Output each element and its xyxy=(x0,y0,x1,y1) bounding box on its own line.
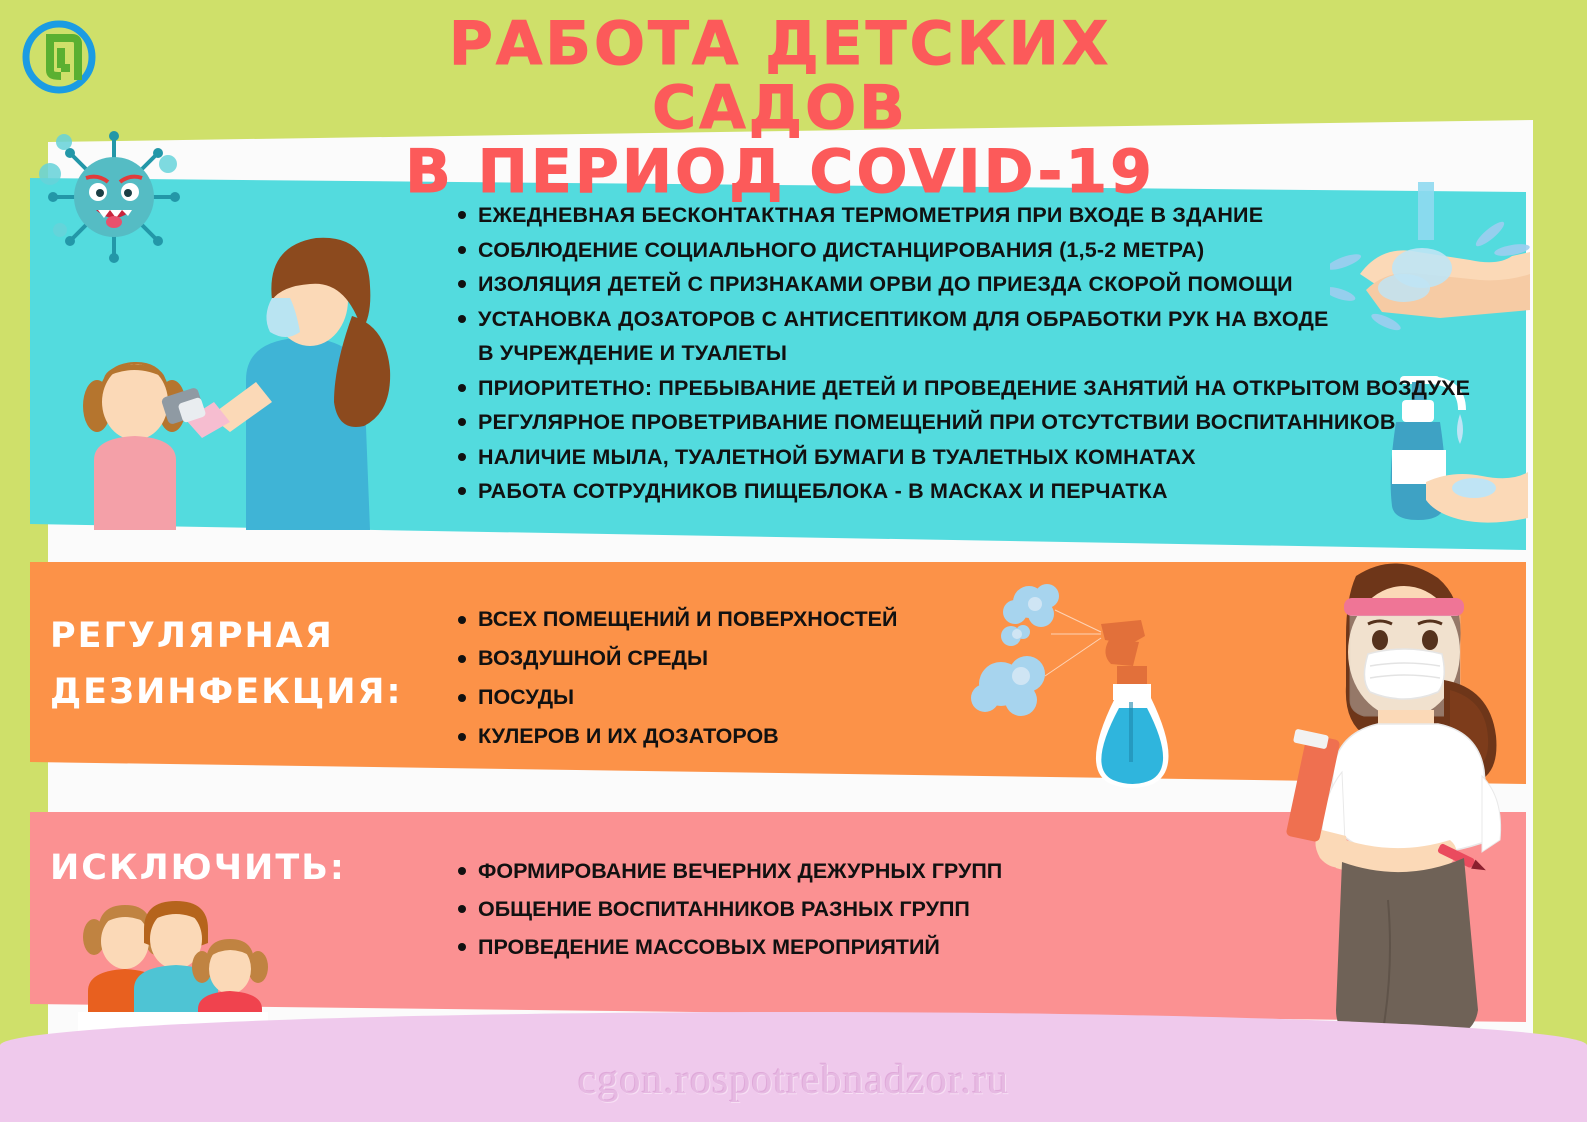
list-item-continuation: В УЧРЕЖДЕНИЕ И ТУАЛЕТЫ xyxy=(452,336,1470,371)
disinfection-heading: РЕГУЛЯРНАЯ ДЕЗИНФЕКЦИЯ: xyxy=(50,608,402,720)
list-item: ПОСУДЫ xyxy=(452,678,897,717)
list-item: ВСЕХ ПОМЕЩЕНИЙ И ПОВЕРХНОСТЕЙ xyxy=(452,600,897,639)
list-item: РЕГУЛЯРНОЕ ПРОВЕТРИВАНИЕ ПОМЕЩЕНИЙ ПРИ О… xyxy=(452,405,1470,440)
list-item: ФОРМИРОВАНИЕ ВЕЧЕРНИХ ДЕЖУРНЫХ ГРУПП xyxy=(452,852,1002,890)
list-item: ЕЖЕДНЕВНАЯ БЕСКОНТАКТНАЯ ТЕРМОМЕТРИЯ ПРИ… xyxy=(452,198,1470,233)
list-item: ВОЗДУШНОЙ СРЕДЫ xyxy=(452,639,897,678)
list-item: ОБЩЕНИЕ ВОСПИТАННИКОВ РАЗНЫХ ГРУПП xyxy=(452,890,1002,928)
list-item: РАБОТА СОТРУДНИКОВ ПИЩЕБЛОКА - В МАСКАХ … xyxy=(452,474,1470,509)
poster-root: РАБОТА ДЕТСКИХ САДОВ В ПЕРИОД COVID-19 xyxy=(0,0,1587,1122)
exclude-list: ФОРМИРОВАНИЕ ВЕЧЕРНИХ ДЕЖУРНЫХ ГРУПП ОБЩ… xyxy=(452,852,1002,966)
list-item: КУЛЕРОВ И ИХ ДОЗАТОРОВ xyxy=(452,717,897,756)
list-item: СОБЛЮДЕНИЕ СОЦИАЛЬНОГО ДИСТАНЦИРОВАНИЯ (… xyxy=(452,233,1470,268)
list-item: НАЛИЧИЕ МЫЛА, ТУАЛЕТНОЙ БУМАГИ В ТУАЛЕТН… xyxy=(452,440,1470,475)
list-item: ПРОВЕДЕНИЕ МАССОВЫХ МЕРОПРИЯТИЙ xyxy=(452,928,1002,966)
list-item: УСТАНОВКА ДОЗАТОРОВ С АНТИСЕПТИКОМ ДЛЯ О… xyxy=(452,302,1470,337)
exclude-heading: ИСКЛЮЧИТЬ: xyxy=(50,848,346,888)
green-right-border xyxy=(1533,120,1587,1122)
watermark-url: cgon.rospotrebnadzor.ru xyxy=(0,1056,1587,1104)
list-item: ИЗОЛЯЦИЯ ДЕТЕЙ С ПРИЗНАКАМИ ОРВИ ДО ПРИЕ… xyxy=(452,267,1470,302)
cgon-logo xyxy=(20,18,98,96)
disinfection-heading-line-1: РЕГУЛЯРНАЯ xyxy=(50,608,402,664)
measures-list: ЕЖЕДНЕВНАЯ БЕСКОНТАКТНАЯ ТЕРМОМЕТРИЯ ПРИ… xyxy=(452,198,1470,509)
disinfection-heading-line-2: ДЕЗИНФЕКЦИЯ: xyxy=(50,664,402,720)
disinfection-list: ВСЕХ ПОМЕЩЕНИЙ И ПОВЕРХНОСТЕЙ ВОЗДУШНОЙ … xyxy=(452,600,897,756)
list-item: ПРИОРИТЕТНО: ПРЕБЫВАНИЕ ДЕТЕЙ И ПРОВЕДЕН… xyxy=(452,371,1470,406)
